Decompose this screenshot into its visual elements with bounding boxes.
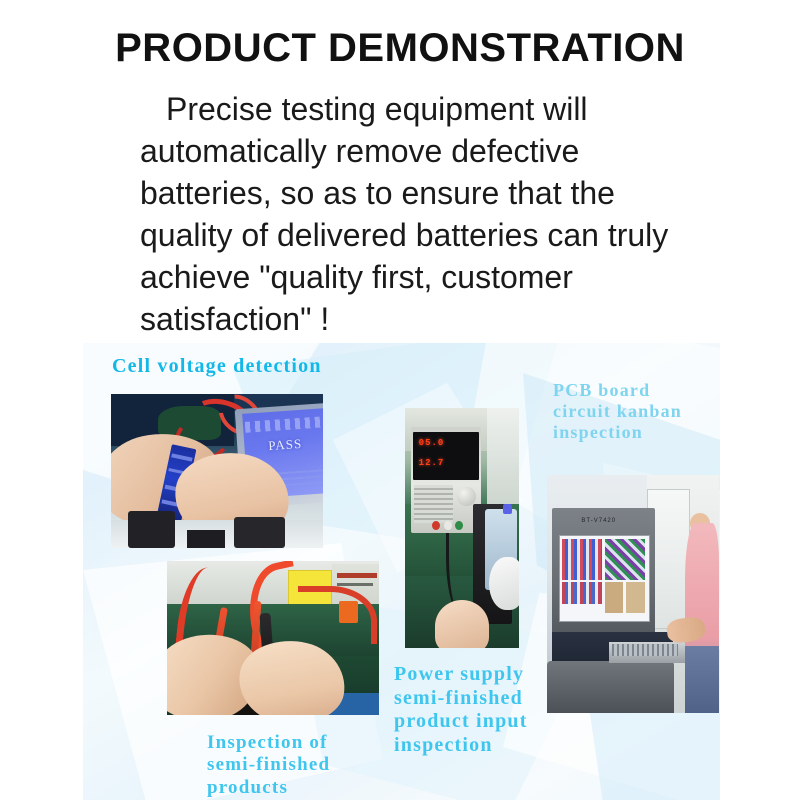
photo-cell-voltage-detection: PASS (111, 394, 323, 548)
page-title: PRODUCT DEMONSTRATION (0, 26, 800, 71)
poster-page: PRODUCT DEMONSTRATION Precise testing eq… (0, 0, 800, 800)
machine-brand-label: BT-V7420 (581, 518, 633, 524)
body-paragraph: Precise testing equipment will automatic… (140, 88, 700, 340)
caption-cell-voltage-detection: Cell voltage detection (112, 355, 322, 379)
photo-semi-finished-inspection (167, 561, 379, 715)
photo-pcb-kanban-inspection: BT-V7420 (547, 475, 719, 713)
psu-display-current: 12.7 (419, 458, 445, 468)
demonstration-panel: PASS (83, 343, 720, 800)
photo-power-supply-inspection: 05.0 12.7 (405, 408, 519, 648)
caption-pcb-board-inspection: PCB board circuit kanban inspection (553, 380, 682, 444)
psu-display-voltage: 05.0 (419, 438, 445, 448)
caption-power-supply-inspection: Power supply semi-finished product input… (394, 663, 528, 757)
caption-semi-finished-inspection: Inspection of semi-finished products (207, 732, 330, 799)
